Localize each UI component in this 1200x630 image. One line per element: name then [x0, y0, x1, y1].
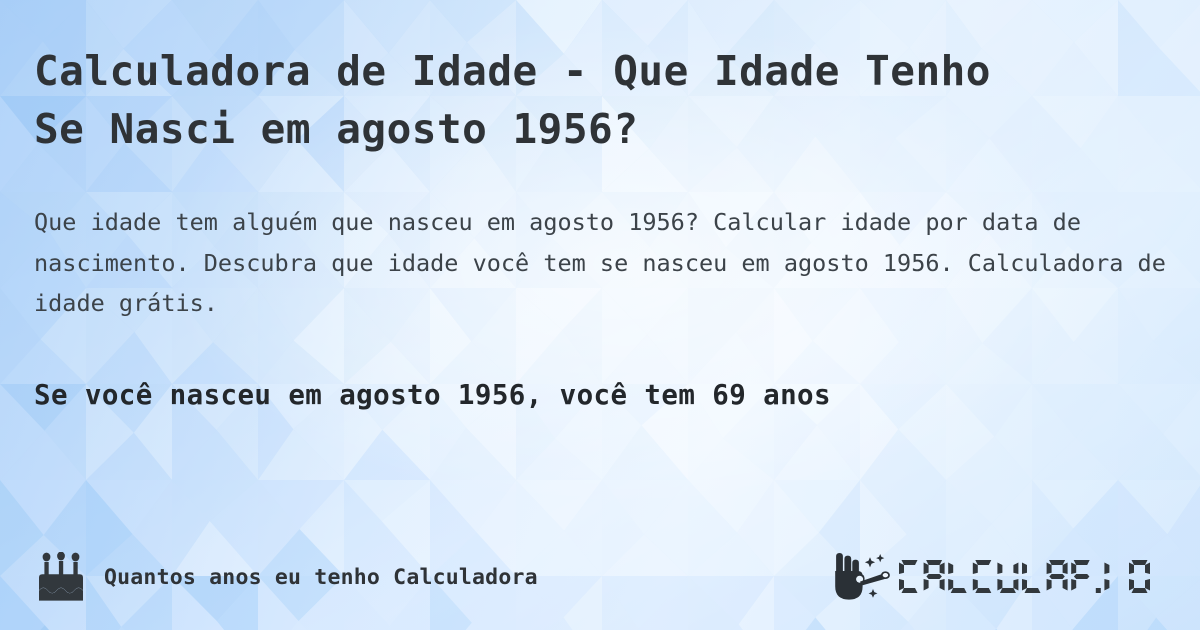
calculatio-logo-wordmark	[899, 554, 1154, 600]
footer-brand-logo[interactable]	[830, 551, 1166, 603]
hand-magic-wand-icon	[830, 551, 892, 603]
page-title: Calculadora de Idade - Que Idade Tenho S…	[34, 0, 1044, 158]
birthday-cake-icon	[34, 552, 88, 602]
footer-brand-left-label: Quantos anos eu tenho Calculadora	[104, 565, 538, 590]
age-answer-statement: Se você nasceu em agosto 1956, você tem …	[34, 324, 1166, 415]
page-root: Calculadora de Idade - Que Idade Tenho S…	[0, 0, 1200, 630]
footer-brand-left[interactable]: Quantos anos eu tenho Calculadora	[34, 552, 538, 602]
layout-spacer	[34, 414, 1166, 546]
footer-bar: Quantos anos eu tenho Calculadora	[34, 546, 1166, 630]
page-description: Que idade tem alguém que nasceu em agost…	[34, 158, 1166, 323]
